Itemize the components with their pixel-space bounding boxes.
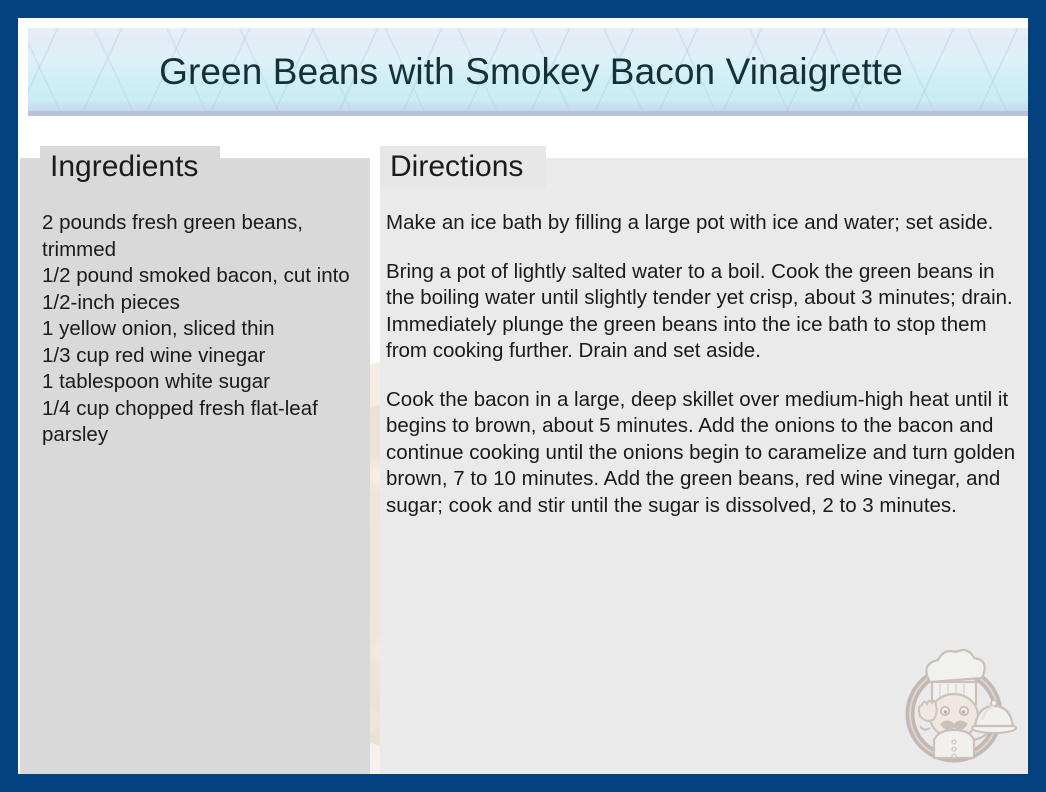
ingredients-text: 2 pounds fresh green beans, trimmed 1/2 … — [42, 210, 372, 449]
directions-list: Make an ice bath by filling a large pot … — [386, 210, 1026, 519]
ingredients-heading: Ingredients — [50, 150, 198, 184]
slide-inner-surface: Green Beans with Smokey Bacon Vinaigrett… — [18, 18, 1028, 774]
directions-heading: Directions — [390, 150, 523, 184]
page-title: Green Beans with Smokey Bacon Vinaigrett… — [28, 51, 1028, 93]
directions-tab: Directions — [380, 146, 546, 188]
ingredients-tab: Ingredients — [40, 146, 220, 188]
ingredients-list: 2 pounds fresh green beans, trimmed 1/2 … — [42, 210, 372, 449]
directions-step: Bring a pot of lightly salted water to a… — [386, 259, 1026, 365]
directions-step: Cook the bacon in a large, deep skillet … — [386, 387, 1026, 520]
title-banner: Green Beans with Smokey Bacon Vinaigrett… — [28, 28, 1028, 116]
directions-step: Make an ice bath by filling a large pot … — [386, 210, 1026, 237]
recipe-slide: Green Beans with Smokey Bacon Vinaigrett… — [0, 0, 1046, 792]
